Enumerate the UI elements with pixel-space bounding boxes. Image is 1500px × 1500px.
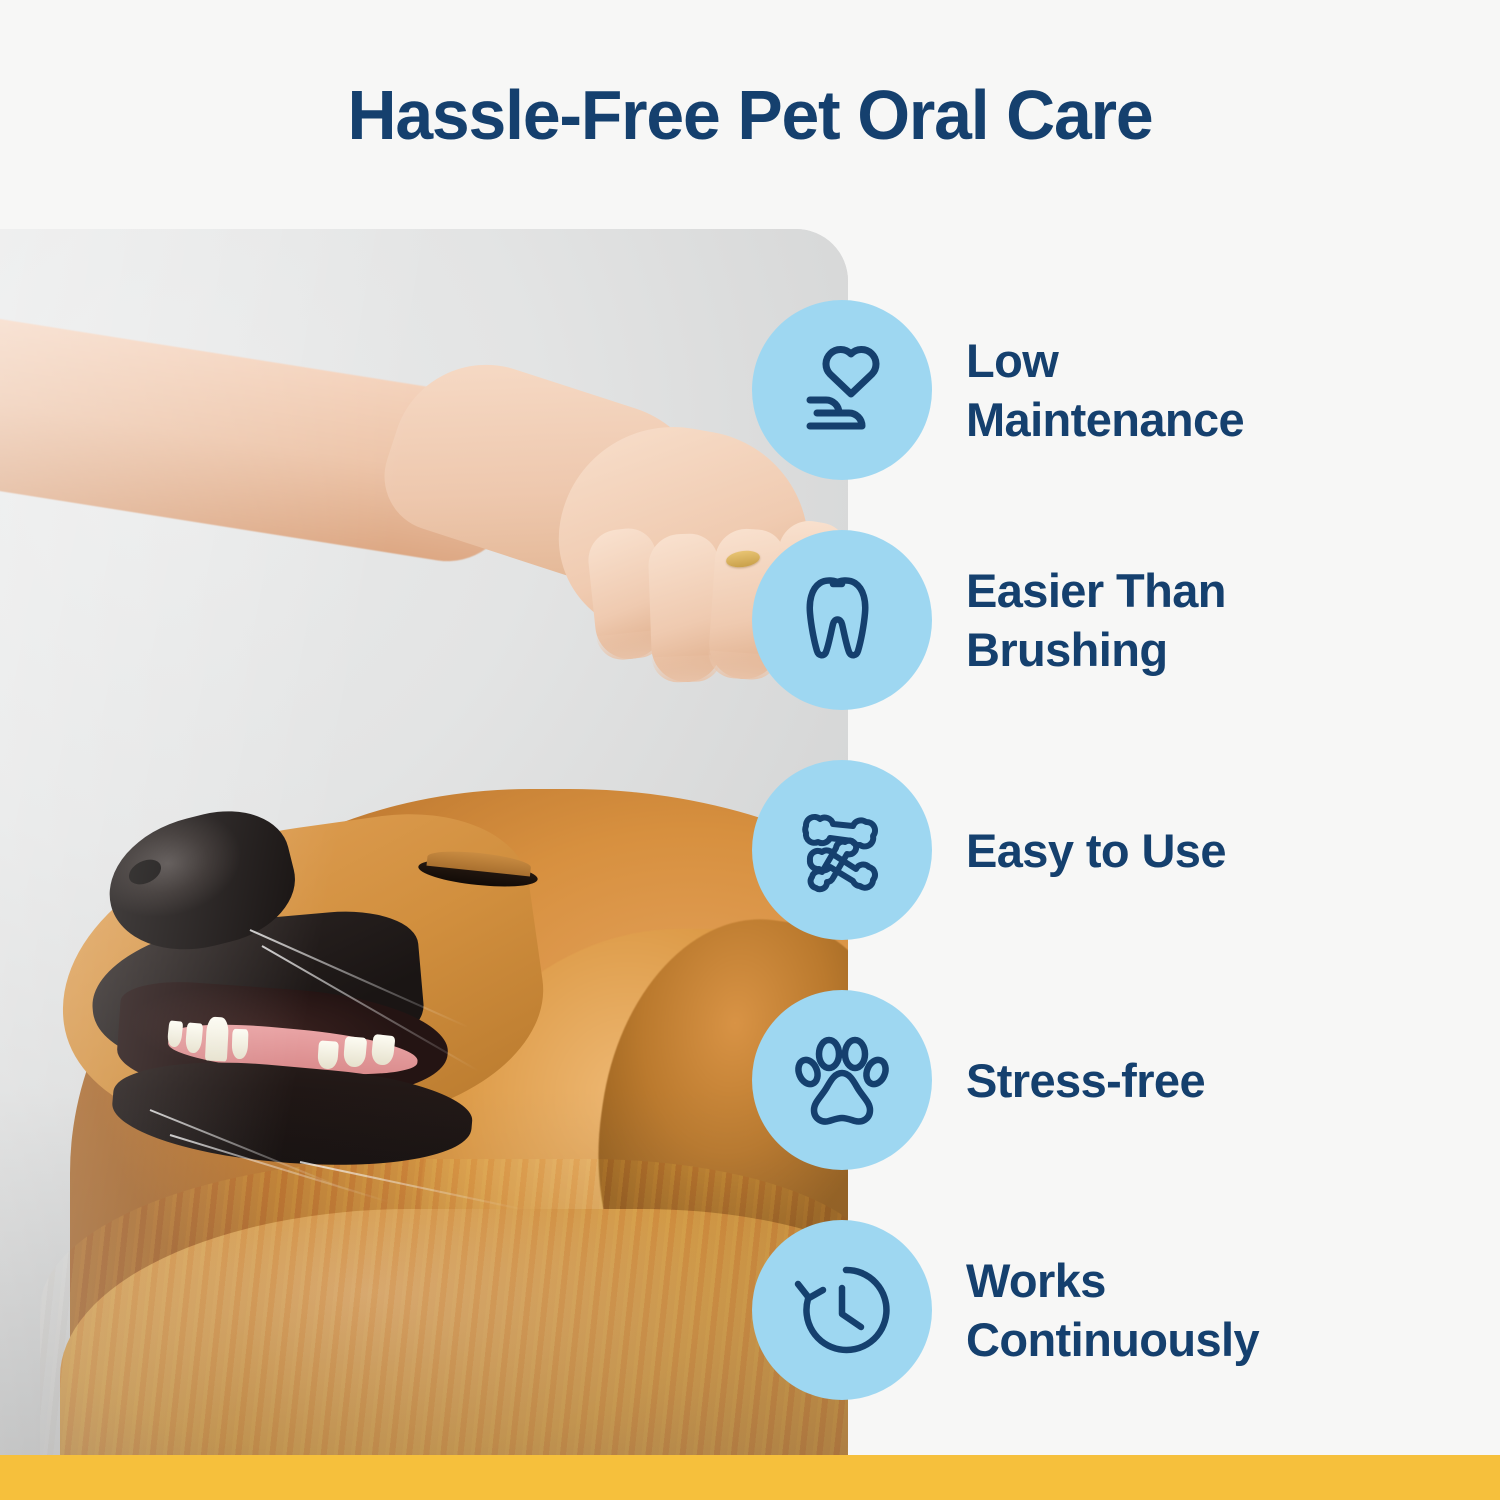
page-title: Hassle-Free Pet Oral Care — [347, 80, 1152, 150]
feature-label: Easier Than Brushing — [966, 561, 1226, 679]
paw-print-icon — [752, 990, 932, 1170]
tooth-icon — [752, 530, 932, 710]
feature-item-easier-than-brushing[interactable]: Easier Than Brushing — [752, 530, 1226, 710]
photo-inner — [0, 229, 848, 1455]
feature-label: Easy to Use — [966, 821, 1226, 880]
bottom-accent-bar — [0, 1455, 1500, 1500]
feature-item-stress-free[interactable]: Stress-free — [752, 990, 1205, 1170]
infographic-root: Hassle-Free Pet Oral Care — [0, 0, 1500, 1500]
feature-item-works-continuously[interactable]: Works Continuously — [752, 1220, 1259, 1400]
heart-in-hand-icon — [752, 300, 932, 480]
feature-label: Low Maintenance — [966, 331, 1244, 449]
crossed-bones-icon — [752, 760, 932, 940]
feature-item-low-maintenance[interactable]: Low Maintenance — [752, 300, 1244, 480]
feature-label: Stress-free — [966, 1051, 1205, 1110]
clock-refresh-icon — [752, 1220, 932, 1400]
feature-item-easy-to-use[interactable]: Easy to Use — [752, 760, 1226, 940]
product-photo — [0, 229, 848, 1455]
header-banner: Hassle-Free Pet Oral Care — [0, 0, 1500, 229]
feature-label: Works Continuously — [966, 1251, 1259, 1369]
photo-vignette — [0, 229, 848, 1455]
